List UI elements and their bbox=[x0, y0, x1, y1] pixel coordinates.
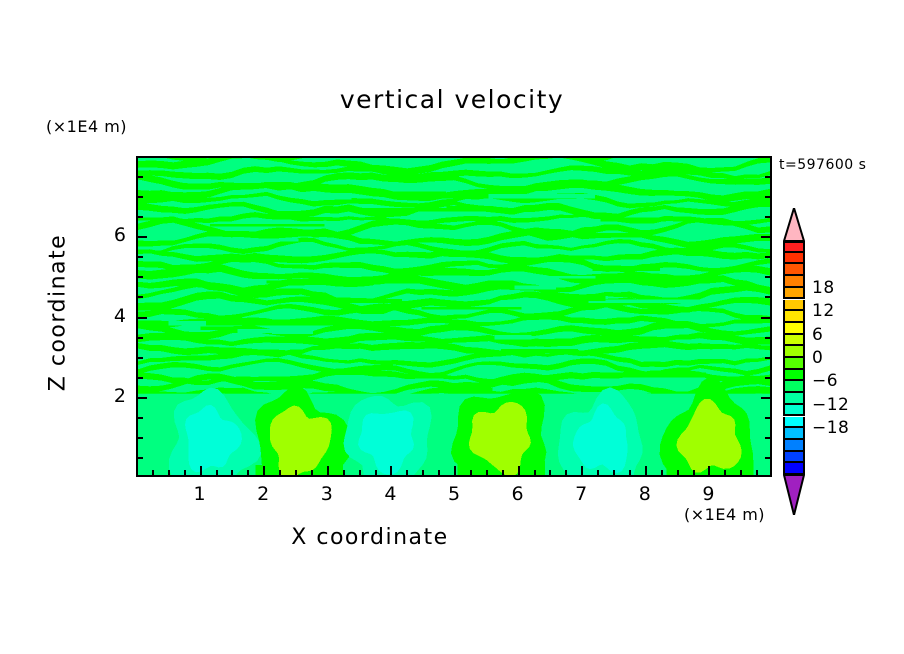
colorbar-tick-label: 0 bbox=[812, 348, 823, 368]
vertical-velocity-field bbox=[138, 158, 770, 475]
wave-patch bbox=[210, 224, 324, 227]
colorbar-band bbox=[783, 381, 805, 393]
y-tick bbox=[765, 276, 772, 278]
x-tick bbox=[581, 466, 583, 477]
y-tick bbox=[761, 397, 772, 399]
y-tick bbox=[136, 357, 143, 359]
y-tick bbox=[136, 196, 143, 198]
colorbar-band bbox=[783, 370, 805, 382]
colorbar-band bbox=[783, 276, 805, 288]
colorbar-band bbox=[783, 253, 805, 265]
y-tick bbox=[136, 397, 147, 399]
colorbar-tick-label: 12 bbox=[812, 301, 835, 321]
y-tick bbox=[761, 317, 772, 319]
wave-patch bbox=[588, 299, 704, 303]
y-tick bbox=[136, 437, 143, 439]
x-tick-label: 3 bbox=[307, 483, 347, 505]
x-tick bbox=[168, 470, 170, 477]
wave-patch bbox=[446, 206, 493, 210]
wave-patch bbox=[434, 276, 596, 279]
wave-patch bbox=[444, 388, 493, 393]
figure-canvas: vertical velocity (×1E4 m) (×1E4 m) t=59… bbox=[0, 0, 904, 654]
y-tick bbox=[136, 236, 147, 238]
x-tick bbox=[327, 466, 329, 477]
y-tick bbox=[136, 417, 143, 419]
y-tick bbox=[765, 216, 772, 218]
y-axis-title: Z coordinate bbox=[46, 193, 71, 433]
x-tick bbox=[263, 466, 265, 477]
x-tick bbox=[422, 470, 424, 477]
y-tick bbox=[136, 457, 143, 459]
y-tick bbox=[765, 357, 772, 359]
colorbar-band bbox=[783, 428, 805, 440]
wave-patch bbox=[421, 307, 521, 310]
wave-patch bbox=[592, 266, 660, 271]
chart-title: vertical velocity bbox=[0, 85, 904, 114]
x-tick-label: 5 bbox=[434, 483, 474, 505]
wave-patch bbox=[272, 329, 313, 334]
colorbar-over-arrow bbox=[783, 208, 805, 241]
x-tick bbox=[375, 470, 377, 477]
x-tick bbox=[295, 470, 297, 477]
x-tick bbox=[470, 470, 472, 477]
x-tick bbox=[279, 470, 281, 477]
colorbar-band bbox=[783, 241, 805, 253]
colorbar-band bbox=[783, 358, 805, 370]
wave-patch bbox=[266, 281, 417, 284]
colorbar-band bbox=[783, 264, 805, 276]
x-tick-label: 2 bbox=[243, 483, 283, 505]
y-tick bbox=[765, 417, 772, 419]
colorbar-tick-label: −18 bbox=[812, 418, 849, 438]
wave-patch bbox=[206, 320, 348, 326]
x-tick bbox=[613, 470, 615, 477]
x-tick bbox=[454, 466, 456, 477]
x-tick-label: 4 bbox=[370, 483, 410, 505]
y-tick bbox=[765, 176, 772, 178]
colorbar-band bbox=[783, 311, 805, 323]
colorbar-band bbox=[783, 463, 805, 475]
colorbar-band bbox=[783, 346, 805, 358]
x-tick bbox=[518, 466, 520, 477]
y-tick bbox=[761, 236, 772, 238]
x-tick bbox=[486, 470, 488, 477]
y-tick bbox=[136, 377, 143, 379]
contour-plot-area bbox=[136, 156, 772, 477]
y-tick bbox=[765, 377, 772, 379]
colorbar-band bbox=[783, 300, 805, 312]
x-tick bbox=[740, 470, 742, 477]
wave-patch bbox=[600, 218, 666, 222]
wave-patch bbox=[238, 239, 299, 242]
colorbar-tick-label: 6 bbox=[812, 325, 823, 345]
colorbar-band bbox=[783, 323, 805, 335]
x-tick bbox=[629, 470, 631, 477]
y-tick-label: 2 bbox=[86, 385, 126, 407]
y-tick bbox=[136, 276, 143, 278]
x-tick-label: 1 bbox=[180, 483, 220, 505]
y-tick bbox=[765, 457, 772, 459]
colorbar-band bbox=[783, 288, 805, 300]
x-tick bbox=[359, 470, 361, 477]
y-tick bbox=[765, 256, 772, 258]
x-tick bbox=[534, 470, 536, 477]
x-tick bbox=[438, 470, 440, 477]
wave-patch bbox=[501, 349, 578, 353]
y-tick bbox=[765, 337, 772, 339]
colorbar-tick-label: −6 bbox=[812, 371, 838, 391]
y-axis-unit-label: (×1E4 m) bbox=[46, 117, 127, 136]
y-tick bbox=[136, 216, 143, 218]
wave-patch bbox=[340, 299, 403, 303]
y-tick bbox=[765, 437, 772, 439]
colorbar-band bbox=[783, 440, 805, 452]
wave-patch bbox=[488, 194, 594, 199]
wave-patch bbox=[566, 296, 605, 301]
x-tick bbox=[216, 470, 218, 477]
colorbar-under-arrow bbox=[783, 475, 805, 515]
x-tick bbox=[184, 470, 186, 477]
colorbar-tick-label: −12 bbox=[812, 395, 849, 415]
x-tick bbox=[231, 470, 233, 477]
x-tick bbox=[565, 470, 567, 477]
y-tick bbox=[136, 296, 143, 298]
y-tick-label: 6 bbox=[86, 224, 126, 246]
x-tick bbox=[693, 470, 695, 477]
y-tick bbox=[136, 256, 143, 258]
wave-patch bbox=[355, 208, 531, 211]
y-tick-label: 4 bbox=[86, 305, 126, 327]
wave-patch bbox=[201, 327, 238, 331]
y-tick bbox=[765, 296, 772, 298]
x-tick-label: 7 bbox=[561, 483, 601, 505]
x-tick bbox=[343, 470, 345, 477]
wave-patch bbox=[515, 285, 557, 289]
timestamp-label: t=597600 s bbox=[779, 157, 866, 173]
x-tick bbox=[661, 470, 663, 477]
y-tick bbox=[136, 337, 143, 339]
x-axis-title: X coordinate bbox=[0, 525, 740, 550]
x-tick bbox=[247, 470, 249, 477]
y-tick bbox=[765, 196, 772, 198]
x-tick bbox=[406, 470, 408, 477]
x-tick bbox=[756, 470, 758, 477]
x-tick-label: 6 bbox=[498, 483, 538, 505]
wave-patch bbox=[494, 335, 531, 339]
y-tick bbox=[136, 176, 143, 178]
x-tick bbox=[200, 466, 202, 477]
x-tick-label: 9 bbox=[688, 483, 728, 505]
x-tick bbox=[549, 470, 551, 477]
x-tick bbox=[597, 470, 599, 477]
x-tick bbox=[311, 470, 313, 477]
wave-patch bbox=[598, 373, 706, 378]
y-tick bbox=[136, 317, 147, 319]
x-tick bbox=[708, 466, 710, 477]
colorbar-band bbox=[783, 417, 805, 429]
wave-patch bbox=[312, 196, 352, 199]
x-tick bbox=[152, 470, 154, 477]
x-tick bbox=[677, 470, 679, 477]
colorbar bbox=[783, 241, 805, 475]
x-tick bbox=[724, 470, 726, 477]
x-tick bbox=[390, 466, 392, 477]
x-tick bbox=[645, 466, 647, 477]
colorbar-band bbox=[783, 393, 805, 405]
colorbar-band bbox=[783, 452, 805, 464]
colorbar-band bbox=[783, 335, 805, 347]
colorbar-tick-label: 18 bbox=[812, 278, 835, 298]
x-axis-unit-label: (×1E4 m) bbox=[684, 505, 765, 524]
x-tick bbox=[502, 470, 504, 477]
colorbar-band bbox=[783, 405, 805, 417]
x-tick-label: 8 bbox=[625, 483, 665, 505]
